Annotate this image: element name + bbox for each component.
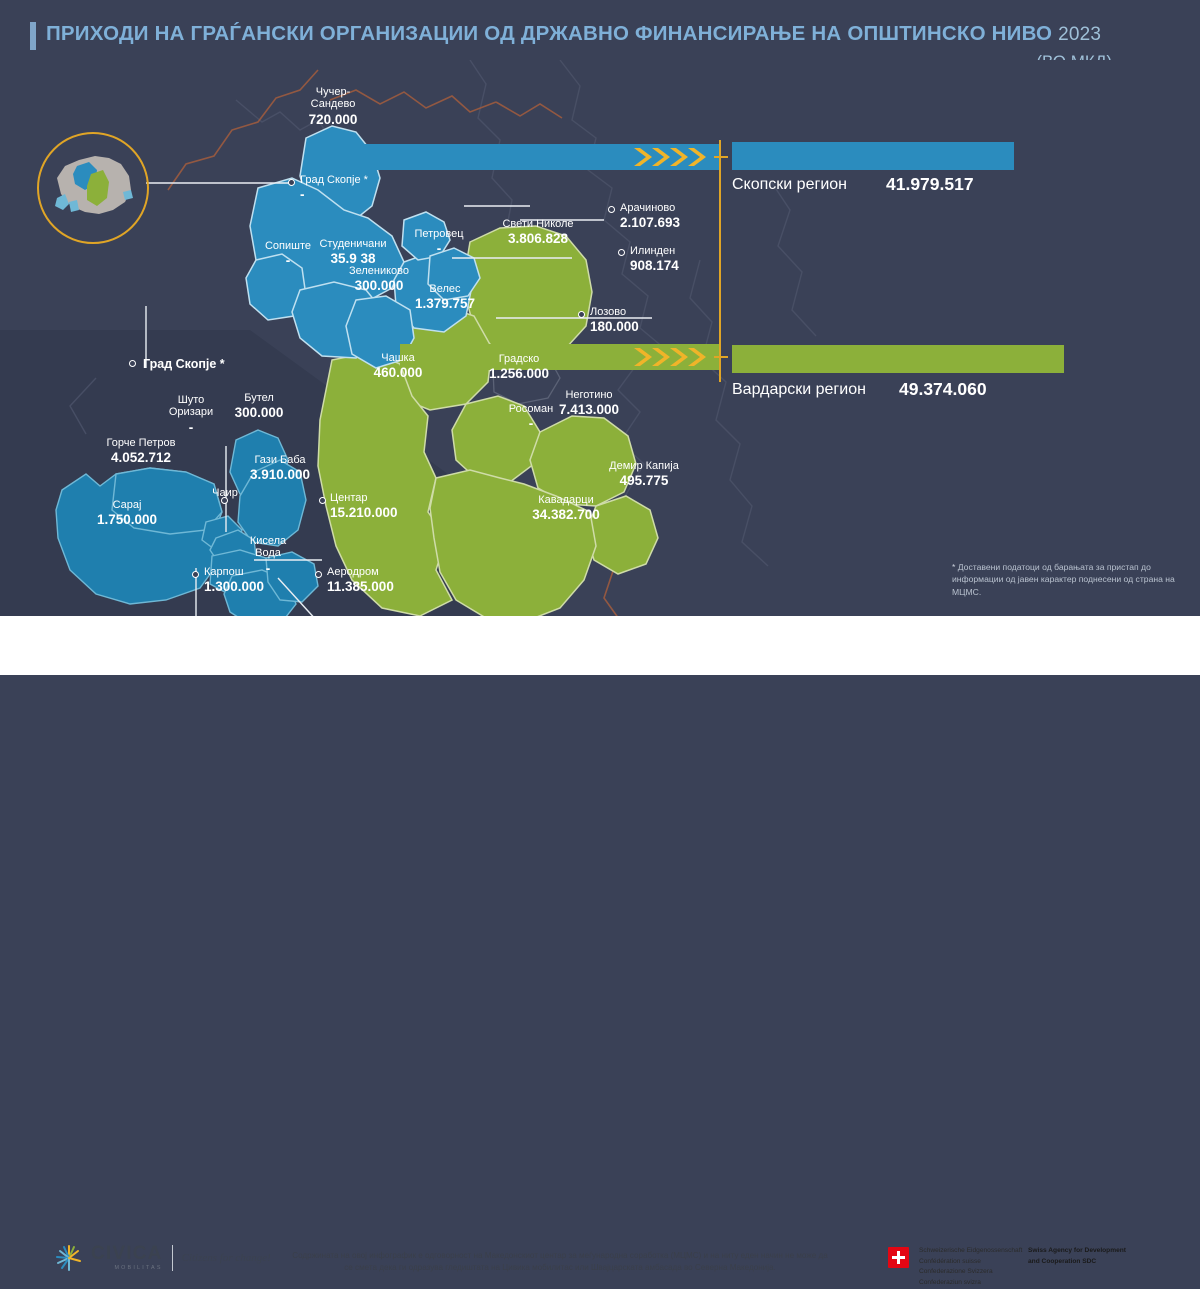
sdc-line2: and Cooperation SDC xyxy=(1028,1257,1126,1268)
label-name: Неготино xyxy=(548,389,630,401)
label-name: Кавадарци xyxy=(516,494,616,506)
label-value: - xyxy=(258,253,318,268)
label-value: 15.210.000 xyxy=(330,505,404,520)
footnote: * Доставени податоци од барањата за прис… xyxy=(952,561,1192,598)
label-value: 2.107.693 xyxy=(620,215,700,230)
label-name-line1: Чучер- xyxy=(293,86,373,98)
label-value: 300.000 xyxy=(228,405,290,420)
map-label-chucher-sandevo: Чучер- Сандево 720.000 xyxy=(293,86,373,127)
label-value: 34.382.700 xyxy=(516,507,616,522)
swiss-flag-icon xyxy=(888,1247,909,1268)
label-name: Чашка xyxy=(362,352,434,364)
label-name: Карпош xyxy=(204,566,272,578)
footnote-text: Доставени податоци од барањата за приста… xyxy=(952,562,1175,597)
civica-sub: MOBILITAS xyxy=(91,1265,163,1271)
label-name: Сопиште xyxy=(258,240,318,252)
label-name: Гази Баба xyxy=(242,454,318,466)
title-accent-bar xyxy=(30,22,36,50)
inset-title-grad-skopje: Град Скопје * xyxy=(143,357,225,371)
map-label-centar: Центар 15.210.000 xyxy=(330,492,404,520)
map-label-gazi-baba: Гази Баба 3.910.000 xyxy=(242,454,318,482)
label-name: Горче Петров xyxy=(95,437,187,449)
sdc-agency-name: Swiss Agency for Development and Coopera… xyxy=(1028,1246,1126,1267)
label-value: 1.256.000 xyxy=(478,366,560,381)
civica-wordmark: CIVICA MOBILITAS xyxy=(91,1244,163,1271)
civica-name: CIVICA xyxy=(91,1244,163,1263)
leader-dot-grad-skopje-inset xyxy=(129,360,136,367)
map-label-saraj: Сарај 1.750.000 xyxy=(89,499,165,527)
footnote-star: * xyxy=(952,562,955,572)
label-name: Велес xyxy=(406,283,484,295)
label-name: Петровец xyxy=(406,228,472,240)
leader-dot-lozovo xyxy=(578,311,585,318)
country-locator-inset xyxy=(37,132,149,244)
swiss-name-rm: Confederaziun svizra xyxy=(919,1278,1022,1289)
map-label-sveti-nikole: Свети Николе 3.806.828 xyxy=(494,218,582,246)
region-bar-skopje xyxy=(732,142,1014,170)
label-value: - xyxy=(160,420,222,435)
leader-dot-grad-skopje xyxy=(288,179,295,186)
label-value: 3.806.828 xyxy=(494,231,582,246)
sdc-line1: Swiss Agency for Development xyxy=(1028,1246,1126,1257)
map-label-arachinovo: Арачиново 2.107.693 xyxy=(620,202,700,230)
map-label-shuto-orizari: Шуто Оризари - xyxy=(160,394,222,435)
map-label-butel: Бутел 300.000 xyxy=(228,392,290,420)
label-name: Аеродром xyxy=(327,566,405,578)
swiss-name-it: Confederazione Svizzera xyxy=(919,1267,1022,1278)
country-locator-map xyxy=(39,134,147,242)
region-value-skopje: 41.979.517 xyxy=(886,174,974,195)
label-name: Студеничани xyxy=(312,238,394,250)
leader-dot-centar xyxy=(319,497,326,504)
swiss-name-de: Schweizerische Eidgenossenschaft xyxy=(919,1246,1022,1257)
label-name: Демир Капија xyxy=(598,460,690,472)
label-name: Лозово xyxy=(590,306,658,318)
civica-logo: CIVICA MOBILITAS Citizens for change! xyxy=(56,1244,271,1271)
map-label-kavadarci: Кавадарци 34.382.700 xyxy=(516,494,616,522)
swiss-confederation-logo: Schweizerische Eidgenossenschaft Confédé… xyxy=(888,1246,1022,1289)
map-label-lozovo: Лозово 180.000 xyxy=(590,306,658,334)
label-name: Сарај xyxy=(89,499,165,511)
map-label-gjorche-petrov: Горче Петров 4.052.712 xyxy=(95,437,187,465)
civica-sunburst-icon xyxy=(56,1245,82,1271)
inset-title-text: Град Скопје * xyxy=(143,357,225,371)
label-name: Арачиново xyxy=(620,202,700,214)
map-label-negotino: Неготино 7.413.000 xyxy=(548,389,630,417)
page-title: ПРИХОДИ НА ГРАЃАНСКИ ОРГАНИЗАЦИИ ОД ДРЖА… xyxy=(46,22,1101,46)
map-label-sopishte: Сопиште - xyxy=(258,240,318,268)
swiss-name-fr: Confédération suisse xyxy=(919,1257,1022,1268)
leader-dot-karposh xyxy=(192,571,199,578)
region-label-vardar: Вардарски регион xyxy=(732,381,866,399)
leader-dot-chair xyxy=(221,497,228,504)
label-name-line1: Кисела xyxy=(240,535,296,547)
map-label-demir-kapija: Демир Капија 495.775 xyxy=(598,460,690,488)
label-value: 7.413.000 xyxy=(548,402,630,417)
leader-dot-aerodrom xyxy=(315,571,322,578)
leader-dot-ilinden xyxy=(618,249,625,256)
logo-divider xyxy=(172,1245,173,1271)
label-name-line2: Сандево xyxy=(293,98,373,110)
label-value: 1.750.000 xyxy=(89,512,165,527)
label-value: 11.385.000 xyxy=(327,579,405,594)
label-value: 460.000 xyxy=(362,365,434,380)
region-bar-vardar xyxy=(732,345,1064,373)
region-label-skopje: Скопски регион xyxy=(732,176,847,194)
label-name: Центар xyxy=(330,492,404,504)
label-value: 720.000 xyxy=(293,112,373,127)
label-value: 1.379.757 xyxy=(406,296,484,311)
civica-tagline: Citizens for change! xyxy=(182,1252,271,1264)
label-name: Свети Николе xyxy=(494,218,582,230)
map-label-grad-skopje: Град Скопје * - xyxy=(300,174,388,202)
label-value: 180.000 xyxy=(590,319,658,334)
infographic-canvas: ПРИХОДИ НА ГРАЃАНСКИ ОРГАНИЗАЦИИ ОД ДРЖА… xyxy=(0,0,1200,675)
label-value: 495.775 xyxy=(598,473,690,488)
swiss-names: Schweizerische Eidgenossenschaft Confédé… xyxy=(919,1246,1022,1289)
map-label-gradsko: Градско 1.256.000 xyxy=(478,353,560,381)
label-name-line1: Шуто xyxy=(160,394,222,406)
label-name: Град Скопје * xyxy=(300,174,388,186)
label-value: - xyxy=(300,187,388,202)
label-name-line2: Оризари xyxy=(160,406,222,418)
label-value: - xyxy=(406,241,472,256)
footer: CIVICA MOBILITAS Citizens for change! Со… xyxy=(0,616,1200,675)
label-value: - xyxy=(494,416,568,431)
region-value-vardar: 49.374.060 xyxy=(899,379,987,400)
footer-disclaimer: Содржината на овој инфографик е одговорн… xyxy=(290,1250,830,1274)
map-label-studenichani: Студеничани 35.9 38 xyxy=(312,238,394,266)
label-name: Бутел xyxy=(228,392,290,404)
map-label-aerodrom: Аеродром 11.385.000 xyxy=(327,566,405,594)
label-value: 1.300.000 xyxy=(204,579,272,594)
map-label-petrovec: Петровец - xyxy=(406,228,472,256)
label-name: Илинден xyxy=(630,245,700,257)
label-value: 4.052.712 xyxy=(95,450,187,465)
page-title-text: ПРИХОДИ НА ГРАЃАНСКИ ОРГАНИЗАЦИИ ОД ДРЖА… xyxy=(46,22,1052,45)
map-label-ilinden: Илинден 908.174 xyxy=(630,245,700,273)
label-name: Градско xyxy=(478,353,560,365)
label-value: 3.910.000 xyxy=(242,467,318,482)
map-label-veles: Велес 1.379.757 xyxy=(406,283,484,311)
map-label-chashka: Чашка 460.000 xyxy=(362,352,434,380)
leader-dot-arachinovo xyxy=(608,206,615,213)
label-name: Зелениково xyxy=(340,265,418,277)
page-title-year: 2023 xyxy=(1058,24,1101,45)
label-name-line2: Вода xyxy=(240,547,296,559)
label-value: 908.174 xyxy=(630,258,700,273)
map-label-karposh: Карпош 1.300.000 xyxy=(204,566,272,594)
map-area xyxy=(0,60,1200,615)
